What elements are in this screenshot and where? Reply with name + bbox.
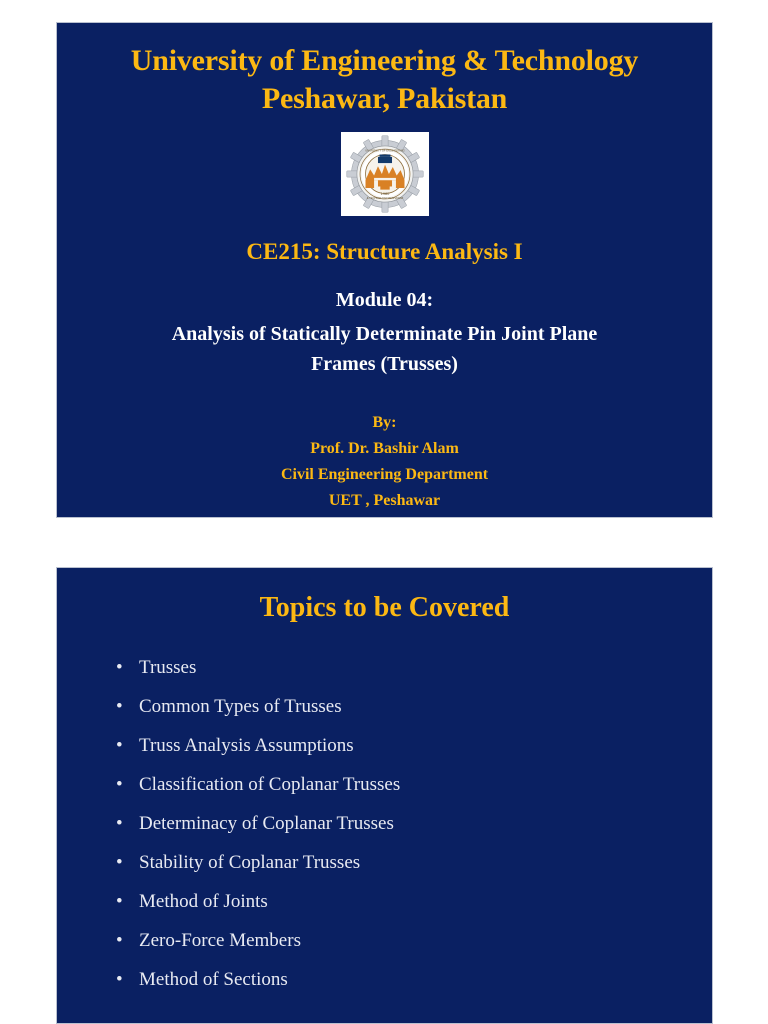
- topic-list-item: •Stability of Coplanar Trusses: [116, 843, 712, 882]
- bullet-icon: •: [116, 648, 123, 687]
- bullet-icon: •: [116, 882, 123, 921]
- bullet-icon: •: [116, 687, 123, 726]
- author-block: By: Prof. Dr. Bashir Alam Civil Engineer…: [57, 410, 712, 514]
- module-title-line-2: Frames (Trusses): [107, 349, 662, 379]
- topic-label: Stability of Coplanar Trusses: [139, 852, 360, 873]
- bullet-icon: •: [116, 765, 123, 804]
- module-title: Analysis of Statically Determinate Pin J…: [107, 319, 662, 379]
- topic-label: Zero-Force Members: [139, 930, 301, 951]
- university-name: University of Engineering & Technology P…: [81, 42, 688, 118]
- topic-list-item: •Truss Analysis Assumptions: [116, 726, 712, 765]
- topic-label: Truss Analysis Assumptions: [139, 735, 354, 756]
- topic-list-item: •Determinacy of Coplanar Trusses: [116, 804, 712, 843]
- svg-text:UNIVERSITY OF ENGINEERING: UNIVERSITY OF ENGINEERING: [365, 148, 404, 152]
- department-name: Civil Engineering Department: [57, 462, 712, 488]
- bullet-icon: •: [116, 804, 123, 843]
- topics-heading: Topics to be Covered: [57, 592, 712, 624]
- topics-list: •Trusses•Common Types of Trusses•Truss A…: [57, 648, 712, 999]
- university-name-line-2: Peshawar, Pakistan: [81, 80, 688, 118]
- bullet-icon: •: [116, 726, 123, 765]
- topic-label: Trusses: [139, 657, 196, 678]
- topic-label: Common Types of Trusses: [139, 696, 342, 717]
- author-name: Prof. Dr. Bashir Alam: [57, 436, 712, 462]
- topic-label: Method of Joints: [139, 891, 268, 912]
- topics-slide: Topics to be Covered •Trusses•Common Typ…: [56, 567, 713, 1024]
- title-slide: University of Engineering & Technology P…: [56, 22, 713, 518]
- topic-list-item: •Classification of Coplanar Trusses: [116, 765, 712, 804]
- university-name-line-1: University of Engineering & Technology: [81, 42, 688, 80]
- topic-list-item: •Method of Sections: [116, 960, 712, 999]
- course-code: CE215: Structure Analysis I: [57, 239, 712, 265]
- topic-label: Method of Sections: [139, 969, 288, 990]
- university-logo: UNIVERSITY OF ENGINEERING & TECHNOLOGY P…: [341, 132, 429, 216]
- module-number: Module 04:: [57, 289, 712, 312]
- topic-list-item: •Zero-Force Members: [116, 921, 712, 960]
- topic-list-item: •Common Types of Trusses: [116, 687, 712, 726]
- topic-list-item: •Trusses: [116, 648, 712, 687]
- bullet-icon: •: [116, 921, 123, 960]
- institution-name: UET , Peshawar: [57, 488, 712, 514]
- svg-text:& TECHNOLOGY PESHAWAR: & TECHNOLOGY PESHAWAR: [366, 196, 403, 200]
- topic-label: Determinacy of Coplanar Trusses: [139, 813, 394, 834]
- module-title-line-1: Analysis of Statically Determinate Pin J…: [107, 319, 662, 349]
- bullet-icon: •: [116, 960, 123, 999]
- uet-seal-icon: UNIVERSITY OF ENGINEERING & TECHNOLOGY P…: [346, 135, 424, 213]
- logo-year: 1980: [380, 191, 389, 196]
- topic-label: Classification of Coplanar Trusses: [139, 774, 400, 795]
- topic-list-item: •Method of Joints: [116, 882, 712, 921]
- bullet-icon: •: [116, 843, 123, 882]
- by-label: By:: [57, 410, 712, 436]
